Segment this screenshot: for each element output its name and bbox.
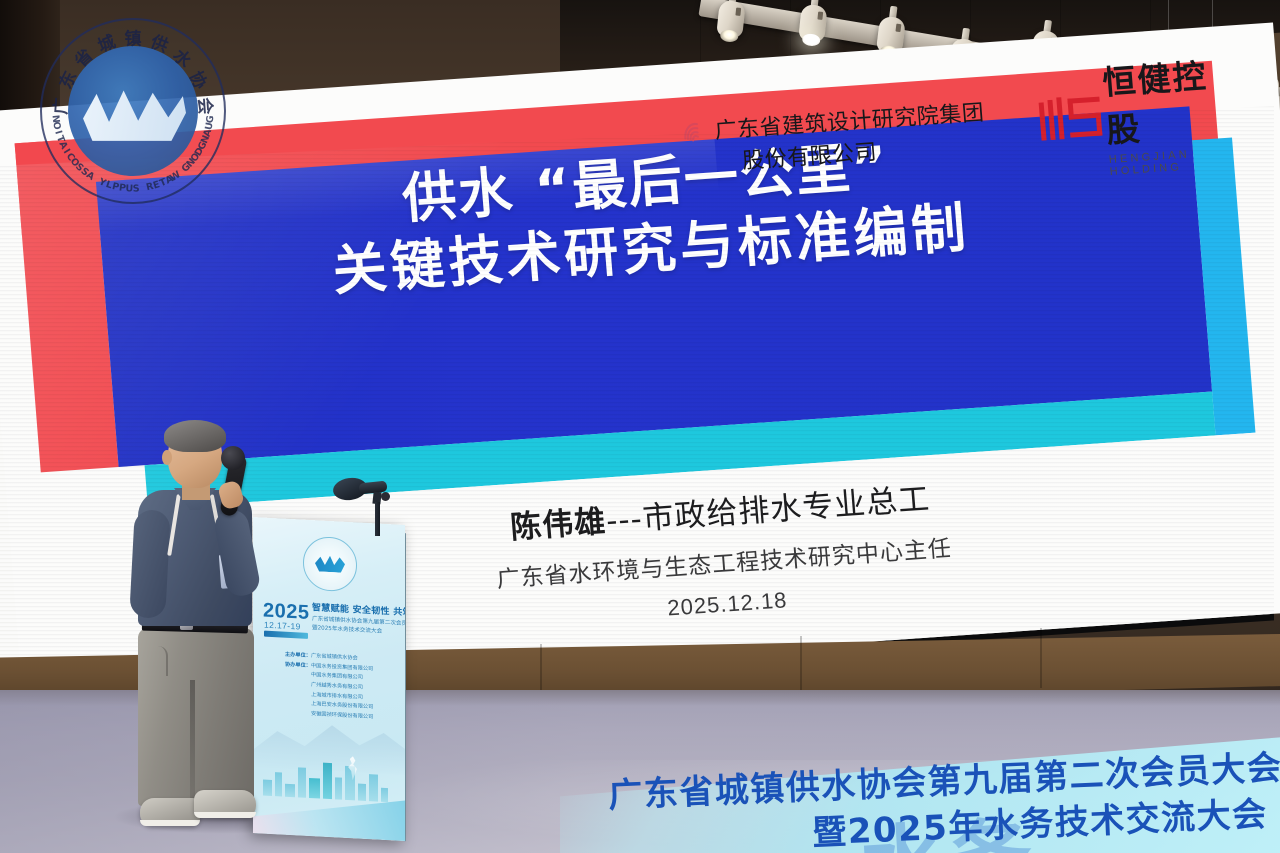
hengjian-name-cn: 恒健控股 bbox=[1101, 47, 1243, 152]
skirt-seam bbox=[1040, 628, 1042, 688]
association-ring-char: 水 bbox=[169, 42, 198, 72]
association-ring-char: 供 bbox=[148, 27, 173, 56]
association-cn-ring: 广东省城镇供水协会 bbox=[42, 20, 224, 202]
fingerprint-swirl-icon bbox=[679, 116, 708, 145]
association-ring-char: 会 bbox=[194, 96, 220, 115]
slide-header-logos: 广东省建筑设计研究院集团 股份有限公司 bbox=[674, 22, 1243, 189]
association-ring-char: 城 bbox=[93, 27, 118, 56]
stand-microphone bbox=[333, 474, 397, 540]
association-ring-char: 省 bbox=[68, 42, 97, 72]
shoe-sole bbox=[140, 820, 200, 826]
microphone-stand-pole bbox=[375, 502, 380, 536]
podium-coorg-0: 中国水务投资集团有限公司 bbox=[311, 663, 373, 672]
hengjian-wordmark: 恒健控股 HENGJIAN HOLDING bbox=[1101, 47, 1245, 178]
speaker-pocket bbox=[144, 646, 168, 676]
speaker-arm-left bbox=[129, 509, 171, 619]
presenter-separator: --- bbox=[605, 501, 644, 539]
microphone-capsule-icon bbox=[221, 446, 245, 470]
shoe-sole bbox=[194, 812, 256, 818]
speaker-ear bbox=[162, 450, 172, 465]
association-watermark: 广东省城镇供水协会 GUANGDONG WATER SUPPLY ASSOCIA… bbox=[40, 18, 226, 204]
speaker-figure bbox=[120, 418, 320, 838]
speaker-hair bbox=[164, 420, 226, 452]
association-ring-char: 协 bbox=[185, 66, 215, 92]
association-ring-char: N bbox=[50, 114, 62, 124]
association-ring-char: 广 bbox=[46, 96, 72, 115]
presenter-name: 陈伟雄 bbox=[509, 504, 608, 546]
conference-photo: 供水 “最后一公里” 关键技术研究与标准编制 陈伟雄---市政给排水专业总工 广… bbox=[0, 0, 1280, 853]
hengjian-bars-icon bbox=[1038, 95, 1097, 145]
presenter-role: 市政给排水专业总工 bbox=[641, 481, 931, 537]
association-ring-char: 东 bbox=[51, 66, 81, 92]
skirt-seam bbox=[800, 636, 802, 696]
hengjian-logo: 恒健控股 HENGJIAN HOLDING bbox=[1035, 47, 1244, 182]
speaker-leg-seam bbox=[190, 680, 195, 806]
association-ring-char: 镇 bbox=[125, 25, 142, 50]
